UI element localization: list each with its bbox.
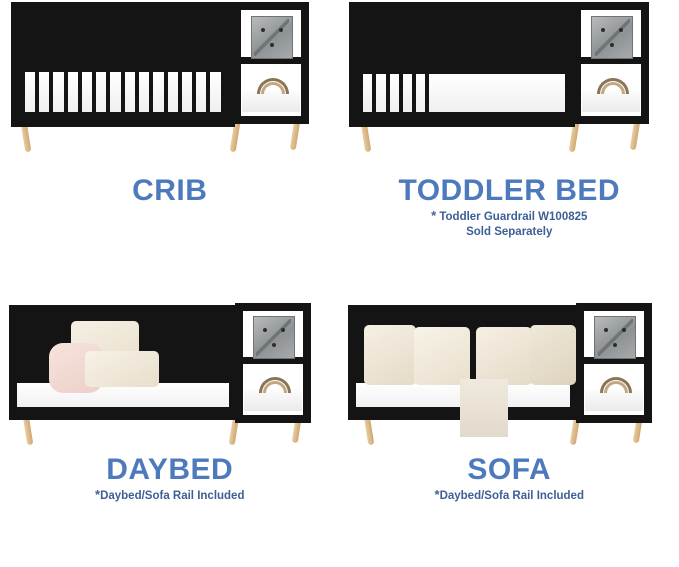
note-line-1: Daybed/Sofa Rail Included xyxy=(440,490,584,502)
panel-toddler-bed: TODDLER BED * Toddler Guardrail W100825 … xyxy=(340,0,679,283)
sofa-illustration xyxy=(340,283,679,451)
leg xyxy=(630,120,641,151)
note-line-1: Toddler Guardrail W100825 xyxy=(439,211,587,223)
panel-crib: CRIB xyxy=(0,0,340,283)
storage-shelf-unit xyxy=(573,2,649,124)
lumbar-pillow xyxy=(85,351,159,387)
cream-pillow xyxy=(414,327,470,385)
storage-shelf-unit xyxy=(576,303,652,423)
panel-title: DAYBED xyxy=(106,453,233,487)
storage-bin xyxy=(594,316,636,359)
asterisk-icon: * xyxy=(431,208,436,223)
panel-daybed: DAYBED *Daybed/Sofa Rail Included xyxy=(0,283,340,567)
daybed-labels: DAYBED *Daybed/Sofa Rail Included xyxy=(95,451,244,504)
throw-blanket xyxy=(460,379,508,437)
panel-note: *Daybed/Sofa Rail Included xyxy=(95,487,244,504)
toddler-guardrail-slats xyxy=(359,62,429,112)
daybed-base-rail xyxy=(9,407,237,420)
daybed-top-rail xyxy=(9,305,237,315)
crib-illustration xyxy=(0,0,340,168)
panel-sofa: SOFA *Daybed/Sofa Rail Included xyxy=(340,283,679,567)
storage-shelf-unit xyxy=(233,2,309,124)
panel-title: SOFA xyxy=(467,453,551,487)
storage-bin xyxy=(253,316,295,359)
crib-top-rail xyxy=(11,2,235,12)
panel-note: * Toddler Guardrail W100825 Sold Separat… xyxy=(431,208,587,240)
storage-shelf-unit xyxy=(235,303,311,423)
note-line-1: Daybed/Sofa Rail Included xyxy=(100,490,244,502)
conversion-options-grid: CRIB xyxy=(0,0,679,567)
panel-note: *Daybed/Sofa Rail Included xyxy=(435,487,584,504)
sofa-labels: SOFA *Daybed/Sofa Rail Included xyxy=(435,451,584,504)
storage-bin xyxy=(591,16,633,59)
cream-pillow xyxy=(364,325,416,385)
note-line-2: Sold Separately xyxy=(466,226,552,238)
toddler-bed-labels: TODDLER BED * Toddler Guardrail W100825 … xyxy=(398,168,620,240)
bed-top-rail xyxy=(349,2,575,12)
storage-bin xyxy=(251,16,293,59)
panel-title: TODDLER BED xyxy=(398,174,620,208)
leg xyxy=(289,120,300,151)
bed-base-rail xyxy=(349,112,575,127)
crib-slats xyxy=(21,10,225,115)
crib-labels: CRIB xyxy=(132,168,207,208)
panel-title: CRIB xyxy=(132,174,207,208)
cream-pillow xyxy=(476,327,532,385)
cream-pillow xyxy=(530,325,576,385)
sofa-top-rail xyxy=(348,305,578,315)
daybed-illustration xyxy=(0,283,340,451)
toddler-bed-illustration xyxy=(340,0,679,168)
crib-base-rail xyxy=(11,112,235,127)
